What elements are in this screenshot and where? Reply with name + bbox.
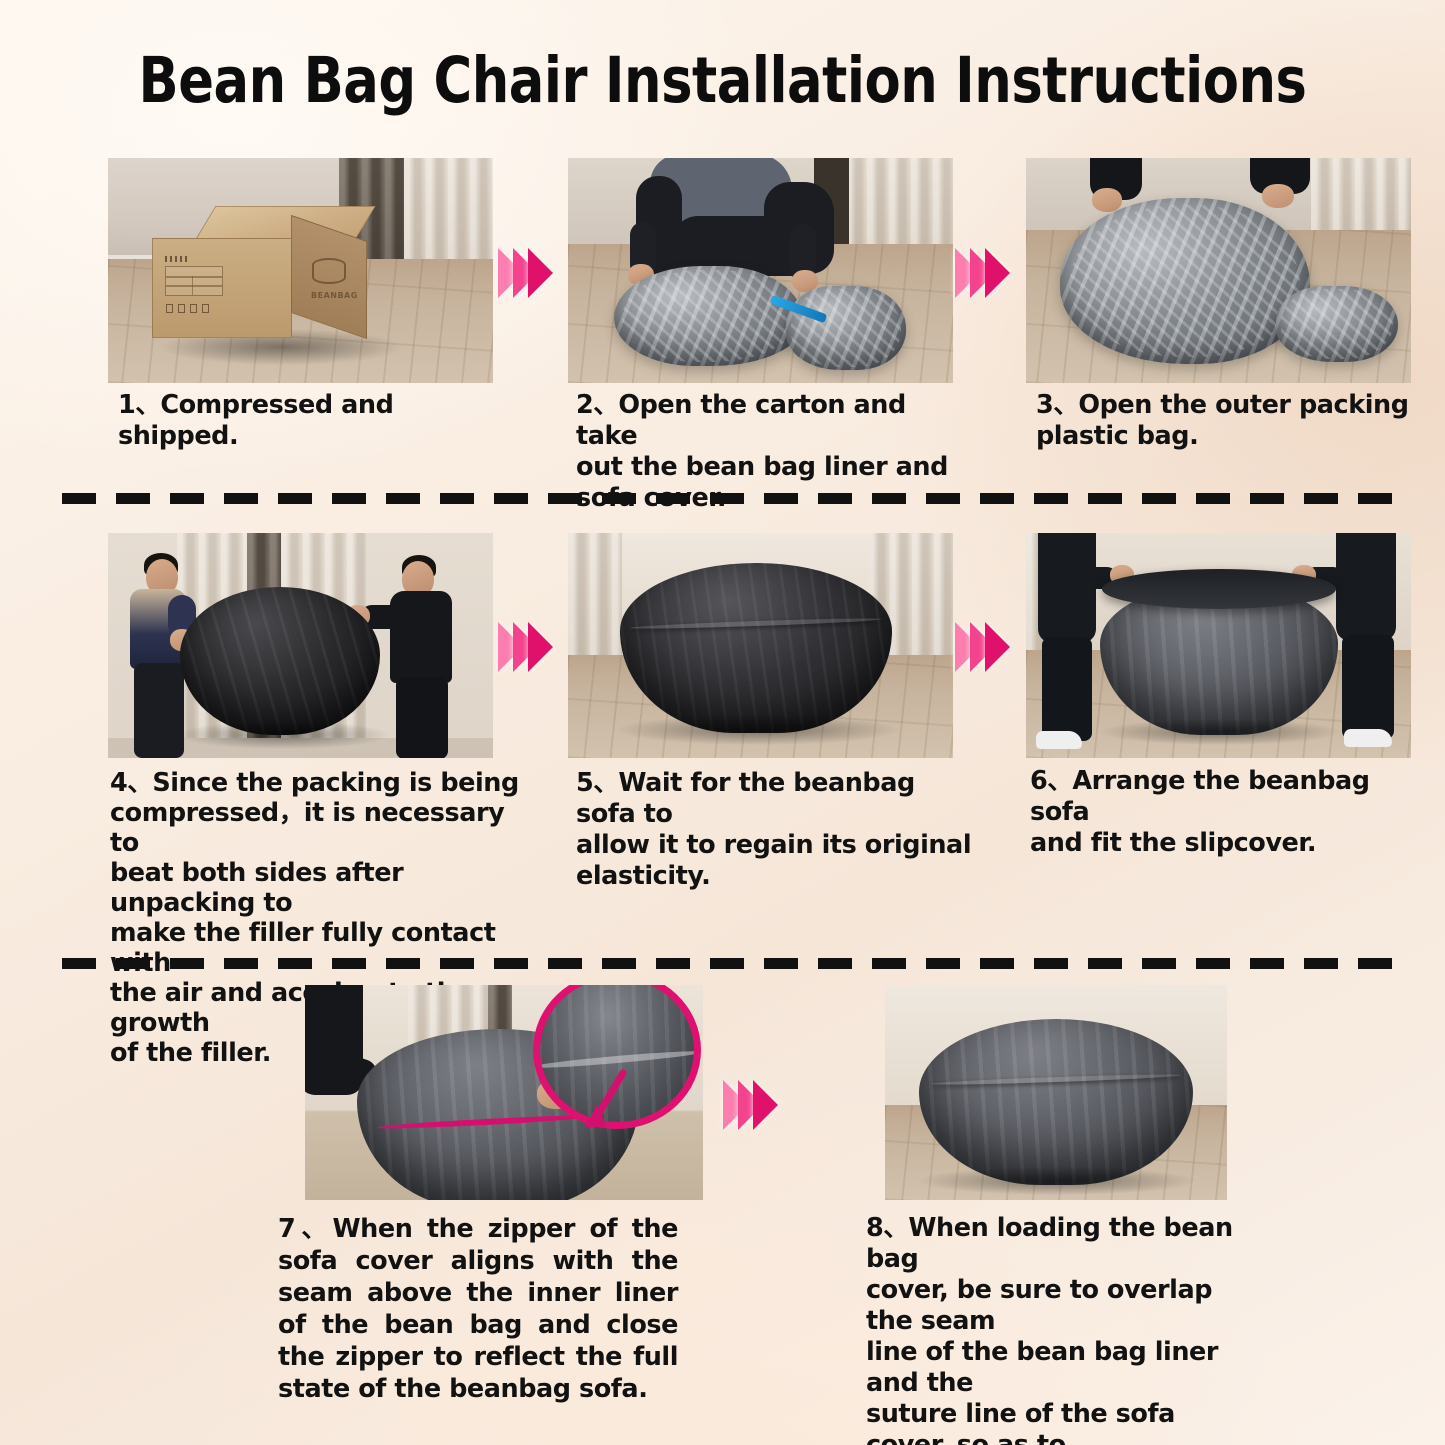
infographic-page: Bean Bag Chair Installation Instructions (0, 0, 1445, 1445)
step-7-caption: 7、When the zipper of the sofa cover alig… (278, 1213, 678, 1405)
step-3-caption: 3、Open the outer packing plastic bag. (1036, 390, 1418, 452)
page-title: Bean Bag Chair Installation Instructions (51, 44, 1395, 118)
chevron-right-arrow (985, 622, 1010, 672)
chevron-right-arrow (528, 622, 553, 672)
step-8-image (885, 985, 1227, 1200)
arrow-step-7-to-8 (723, 1080, 778, 1130)
dashed-divider-1 (62, 493, 1392, 504)
dashed-divider-2 (62, 958, 1392, 969)
arrow-step-2-to-3 (955, 248, 1010, 298)
step-6-caption: 6、Arrange the beanbag sofa and fit the s… (1030, 766, 1422, 859)
step-1-image: BEANBAG (108, 158, 493, 383)
step-1-caption: 1、Compressed and shipped. (118, 390, 518, 452)
chevron-right-arrow (528, 248, 553, 298)
chevron-right-arrow (753, 1080, 778, 1130)
arrow-step-5-to-6 (955, 622, 1010, 672)
step-3-image (1026, 158, 1411, 383)
step-8-caption: 8、When loading the bean bag cover, be su… (866, 1213, 1262, 1445)
arrow-step-1-to-2 (498, 248, 553, 298)
step-4-image (108, 533, 493, 758)
step-2-image (568, 158, 953, 383)
pink-arrow-icon (493, 1069, 633, 1149)
step-5-image (568, 533, 953, 758)
chevron-right-arrow (985, 248, 1010, 298)
step-7-image (305, 985, 703, 1200)
step-6-image (1026, 533, 1411, 758)
arrow-step-4-to-5 (498, 622, 553, 672)
step-5-caption: 5、Wait for the beanbag sofa to allow it … (576, 768, 972, 892)
